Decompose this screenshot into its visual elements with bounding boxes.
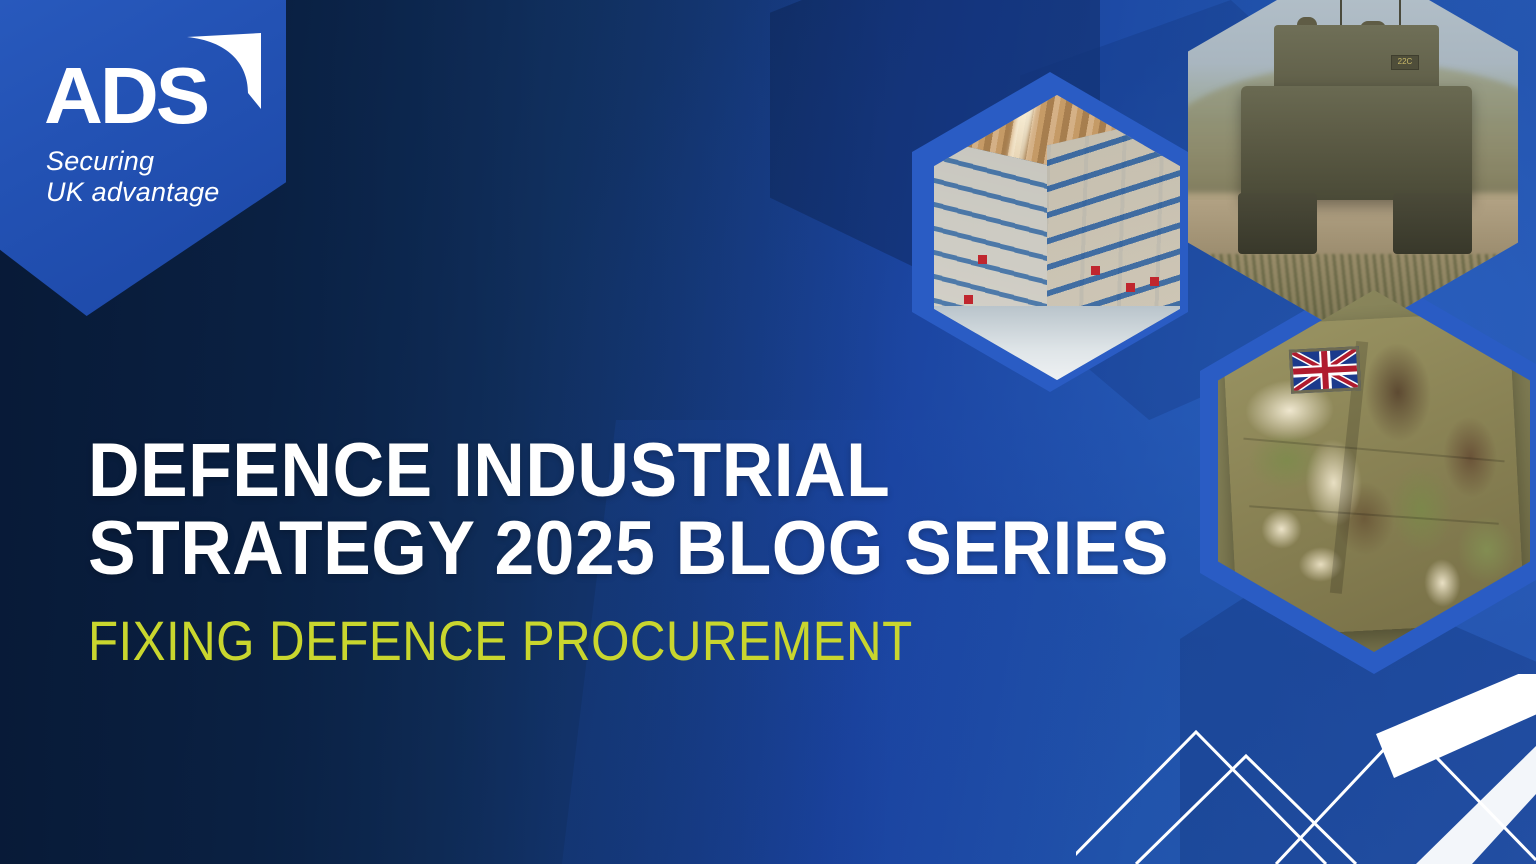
union-jack-patch-icon — [1289, 346, 1361, 394]
ads-logo[interactable]: ADS Securing UK advantage — [44, 30, 254, 210]
banner-canvas: ADS Securing UK advantage — [0, 0, 1536, 864]
page-subtitle: FIXING DEFENCE PROCUREMENT — [88, 612, 913, 670]
ads-logotype: ADS — [44, 30, 244, 140]
headline-line-1: DEFENCE INDUSTRIAL — [88, 432, 1141, 510]
ads-wordmark: ADS — [44, 56, 207, 136]
chevron-lines-graphic — [1076, 674, 1536, 864]
ads-tagline: Securing UK advantage — [46, 146, 220, 208]
headline-line-2: STRATEGY 2025 BLOG SERIES — [88, 510, 1141, 588]
ads-swoosh-icon — [187, 33, 261, 109]
page-title: DEFENCE INDUSTRIAL STRATEGY 2025 BLOG SE… — [88, 432, 1208, 588]
tank-marking: 22C — [1391, 55, 1419, 70]
tank-hexagon: 22C — [1188, 0, 1518, 338]
